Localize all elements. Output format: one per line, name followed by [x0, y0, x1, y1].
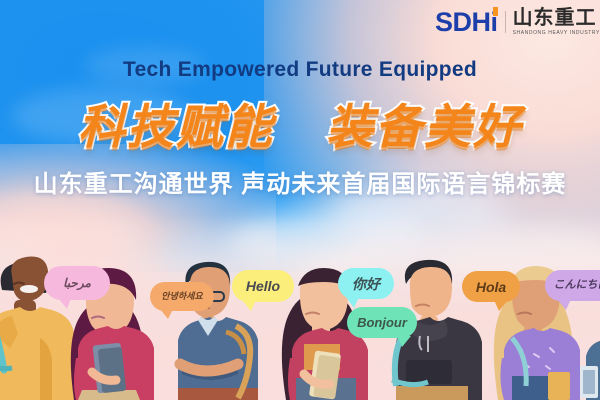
speech-bubble-arabic: مرحبا [44, 266, 110, 300]
person-7 [580, 340, 600, 400]
speech-bubble-tail [557, 299, 571, 310]
headline-chinese: 科技赋能 装备美好 [0, 88, 600, 157]
speech-bubble-japanese-text: こんにちは [554, 280, 600, 291]
speech-bubble-tail [58, 298, 71, 309]
speech-bubble-korean-text: 안녕하세요 [161, 292, 202, 301]
speech-bubble-english-text: Hello [246, 279, 280, 293]
speech-bubble-tail [494, 300, 508, 311]
logo-wordmark: SDHi [435, 9, 498, 36]
speech-bubble-french-text: Bonjour [357, 316, 407, 329]
headline-chinese-part1: 科技赋能 [78, 100, 274, 153]
headline-english: Tech Empowered Future Equipped [0, 58, 600, 82]
speech-bubble-english: Hello [232, 270, 294, 302]
speech-bubble-chinese: 你好 [338, 268, 394, 299]
subtitle-chinese: 山东重工沟通世界 声动未来首届国际语言锦标赛 [0, 164, 600, 199]
speech-bubble-spanish: Hola [462, 271, 520, 302]
speech-bubble-tail [346, 297, 359, 308]
speech-bubble-tail [242, 300, 256, 311]
speech-bubble-tail [160, 309, 173, 319]
speech-bubble-french: Bonjour [347, 307, 417, 338]
people-illustration [0, 240, 600, 400]
speech-bubble-tail [397, 336, 411, 347]
logo-accent-bar [493, 7, 498, 16]
logo-chinese-block: 山东重工 SHANDONG HEAVY INDUSTRY [513, 8, 600, 36]
promotional-banner: SDHi 山东重工 SHANDONG HEAVY INDUSTRY Tech E… [0, 0, 600, 400]
speech-bubble-arabic-text: مرحبا [63, 277, 91, 289]
speech-bubble-spanish-text: Hola [476, 280, 506, 294]
speech-bubble-japanese: こんにちは [545, 270, 600, 301]
headline-chinese-part2: 装备美好 [326, 100, 522, 153]
speech-bubble-chinese-text: 你好 [352, 277, 380, 291]
logo-chinese-subtext: SHANDONG HEAVY INDUSTRY [513, 31, 600, 36]
logo-divider [505, 11, 506, 33]
logo-chinese-name: 山东重工 [513, 8, 600, 28]
speech-bubble-korean: 안녕하세요 [150, 282, 214, 311]
logo-wordmark-text: SDHi [435, 7, 498, 37]
sdhi-logo: SDHi 山东重工 SHANDONG HEAVY INDUSTRY [435, 8, 600, 36]
